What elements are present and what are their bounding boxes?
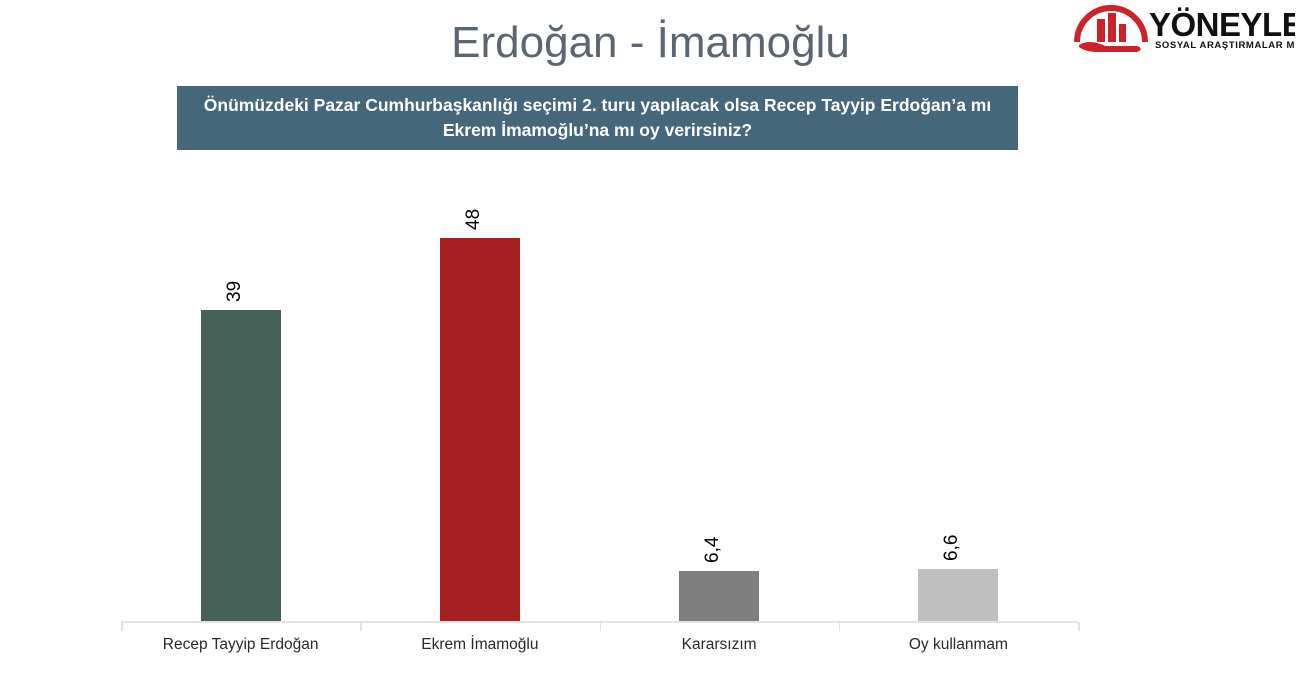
x-axis-category-label: Recep Tayyip Erdoğan bbox=[121, 636, 360, 654]
bar bbox=[440, 238, 520, 622]
bar bbox=[679, 571, 759, 622]
x-axis-category-label: Kararsızım bbox=[600, 636, 839, 654]
bar-value-label: 6,4 bbox=[703, 536, 722, 562]
bar-group: 48 bbox=[360, 190, 599, 622]
bar-group: 39 bbox=[121, 190, 360, 622]
bar-value-label: 48 bbox=[464, 209, 483, 230]
x-axis-tick bbox=[600, 622, 602, 631]
bar bbox=[918, 569, 998, 622]
x-axis-category-label: Ekrem İmamoğlu bbox=[360, 636, 599, 654]
bar-group: 6,6 bbox=[839, 190, 1078, 622]
bar-chart: 39486,46,6 Recep Tayyip ErdoğanEkrem İma… bbox=[0, 0, 1301, 696]
x-axis-tick bbox=[121, 622, 123, 631]
bar-group: 6,4 bbox=[600, 190, 839, 622]
x-axis-tick bbox=[839, 622, 841, 631]
bar bbox=[201, 310, 281, 622]
x-axis-tick bbox=[360, 622, 362, 631]
bar-value-label: 6,6 bbox=[942, 535, 961, 561]
bar-value-label: 39 bbox=[225, 281, 244, 302]
x-axis-category-label: Oy kullanmam bbox=[839, 636, 1078, 654]
plot-area: 39486,46,6 bbox=[121, 190, 1078, 622]
x-axis-tick bbox=[1078, 622, 1080, 631]
